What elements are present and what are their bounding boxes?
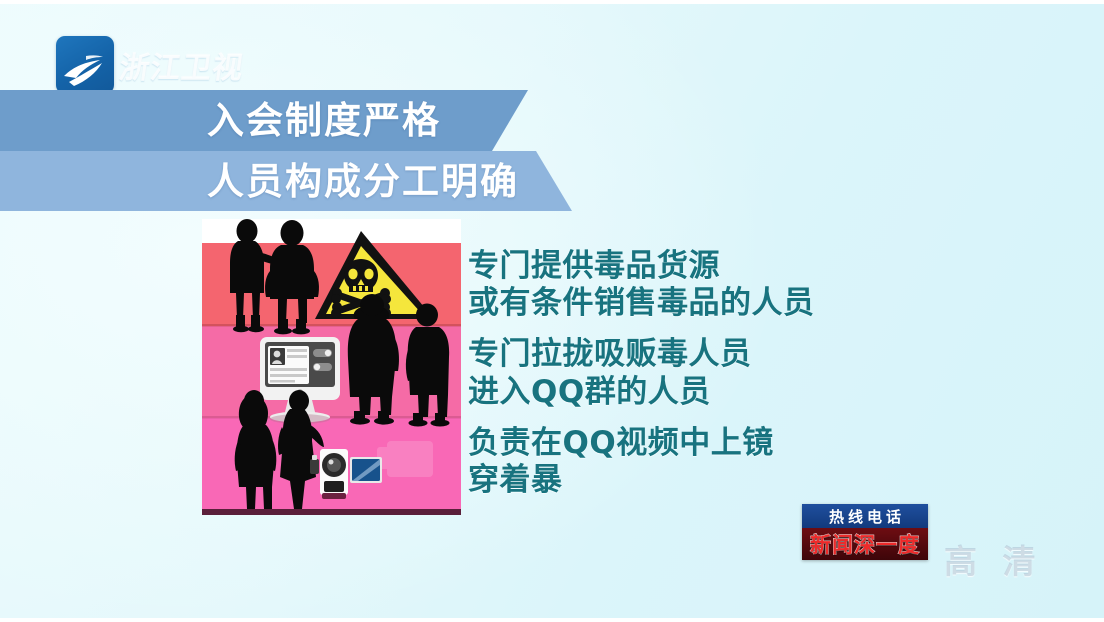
headline-line-1: 入会制度严格 bbox=[207, 102, 441, 139]
zhejiang-tv-z-swoosh-icon bbox=[56, 36, 114, 94]
headline-line-2: 人员构成分工明确 bbox=[207, 163, 519, 200]
copy-line: 或有条件销售毒品的人员 bbox=[468, 285, 898, 322]
hotline-badge-top: 热线电话 bbox=[802, 504, 928, 528]
channel-logo: 浙江卫视 bbox=[56, 36, 244, 94]
channel-logo-text: 浙江卫视 bbox=[117, 43, 247, 87]
broadcast-frame: 浙江卫视 入会制度严格 人员构成分工明确 bbox=[0, 0, 1104, 622]
letterbox-top bbox=[0, 0, 1104, 4]
hotline-label: 热线电话 bbox=[825, 506, 905, 527]
body-copy: 专门提供毒品货源 或有条件销售毒品的人员 专门拉拢吸贩毒人员 进入QQ群的人员 … bbox=[468, 248, 898, 513]
copy-block-recruiter: 专门拉拢吸贩毒人员 进入QQ群的人员 bbox=[468, 336, 898, 410]
copy-line: 负责在QQ视频中上镜 bbox=[468, 425, 898, 462]
copy-line: 进入QQ群的人员 bbox=[468, 374, 898, 411]
drug-crime-silhouette-graphic bbox=[202, 219, 461, 515]
hotline-badge-bottom: 新闻深一度 bbox=[802, 528, 928, 560]
copy-line: 专门拉拢吸贩毒人员 bbox=[468, 336, 898, 373]
hotline-badge: 热线电话 新闻深一度 bbox=[802, 504, 928, 560]
copy-block-performer: 负责在QQ视频中上镜 穿着暴 bbox=[468, 425, 898, 499]
copy-line: 专门提供毒品货源 bbox=[468, 248, 898, 285]
headline-banner-secondary: 人员构成分工明确 bbox=[0, 151, 572, 211]
program-name-label: 新闻深一度 bbox=[810, 529, 920, 559]
letterbox-bottom bbox=[0, 618, 1104, 622]
hd-watermark: 高 清 bbox=[944, 535, 1043, 583]
headline-banner-primary: 入会制度严格 bbox=[0, 90, 528, 151]
copy-block-supplier: 专门提供毒品货源 或有条件销售毒品的人员 bbox=[468, 248, 898, 322]
copy-line: 穿着暴 bbox=[468, 462, 898, 499]
